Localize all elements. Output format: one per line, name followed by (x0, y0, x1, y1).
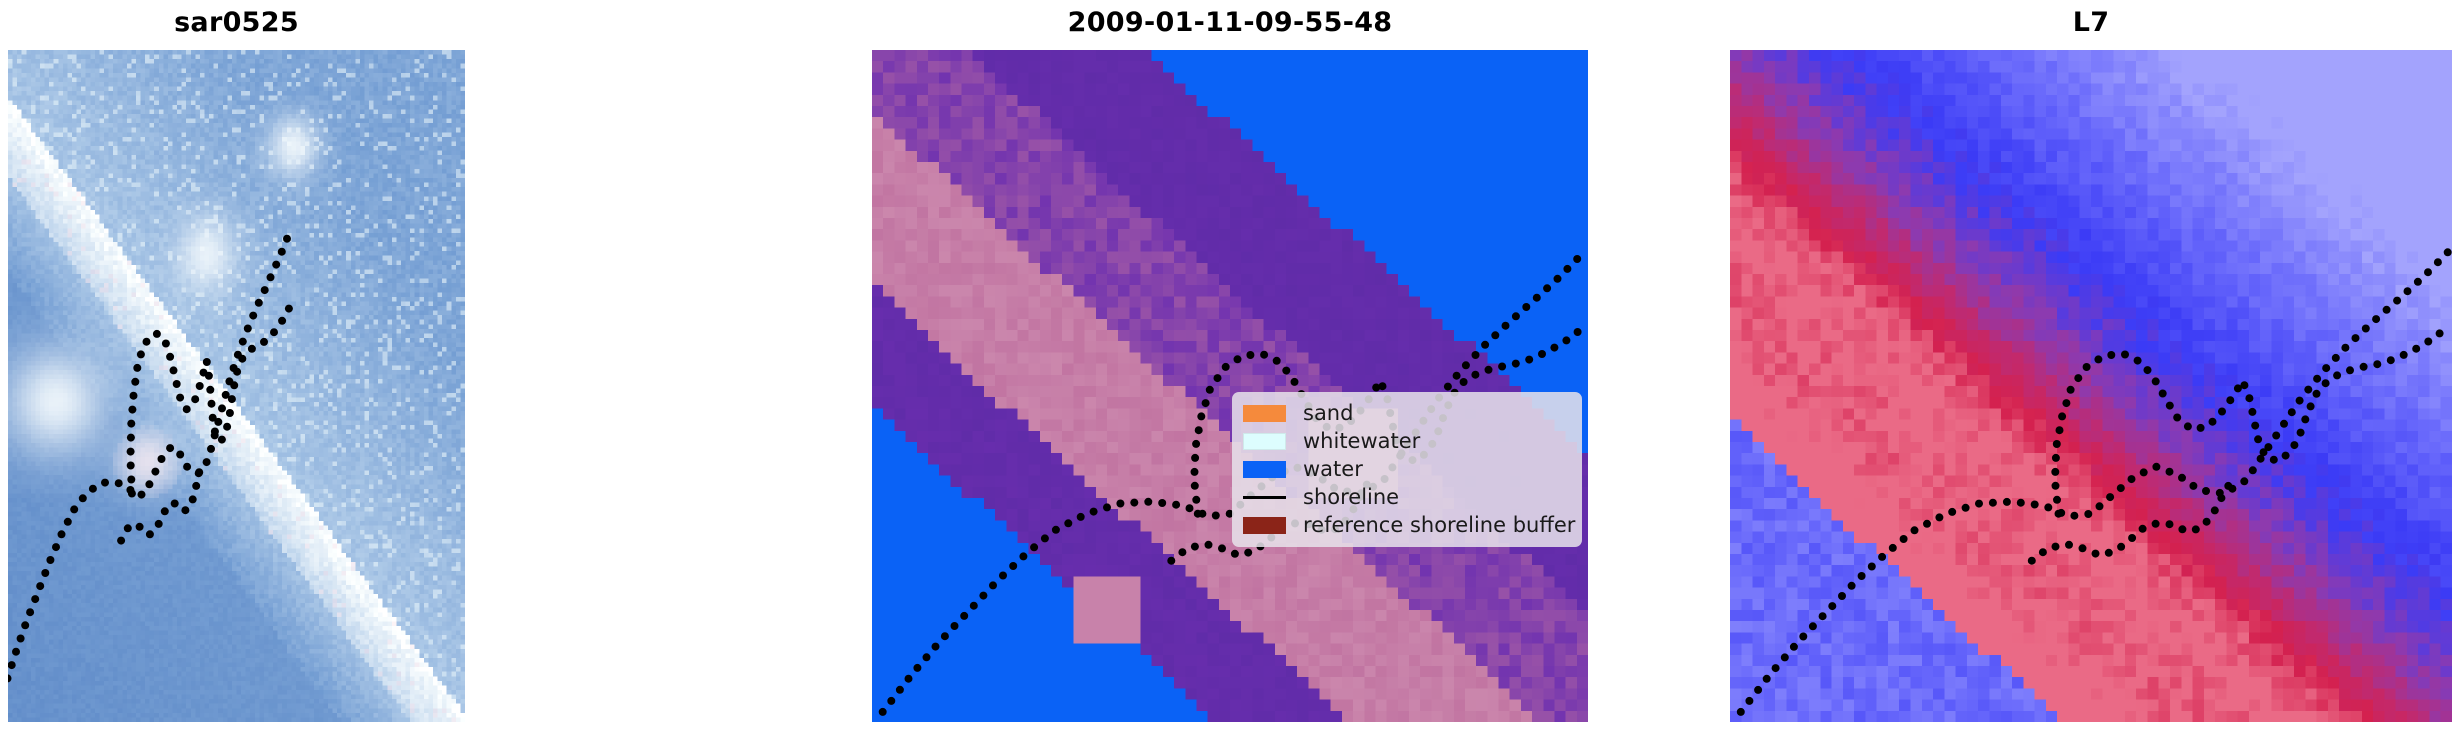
legend-swatch-reference-shoreline-buffer-icon (1243, 517, 1286, 534)
panel-title-classified: 2009-01-11-09-55-48 (872, 6, 1588, 40)
classified-land-water-map (872, 50, 1588, 722)
legend-item-reference-shoreline-buffer: reference shoreline buffer (1243, 513, 1570, 538)
legend-label: reference shoreline buffer (1303, 513, 1575, 538)
legend-label: shoreline (1303, 485, 1399, 510)
axes-sar0525 (8, 50, 465, 722)
legend-item-whitewater: whitewater (1243, 429, 1570, 454)
legend-swatch-whitewater-icon (1243, 433, 1286, 450)
legend-item-sand: sand (1243, 401, 1570, 426)
spectral-index-map (1730, 50, 2452, 722)
legend-label: whitewater (1303, 429, 1420, 454)
legend-item-shoreline: shoreline (1243, 485, 1570, 510)
axes-l7 (1730, 50, 2452, 722)
legend-item-water: water (1243, 457, 1570, 482)
panel-title-sar0525: sar0525 (8, 6, 465, 40)
figure-root: sar0525 2009-01-11-09-55-48 L7 sandwhite… (0, 0, 2460, 735)
panel-title-l7: L7 (1730, 6, 2452, 40)
legend-label: sand (1303, 401, 1353, 426)
axes-classified (872, 50, 1588, 722)
legend: sandwhitewaterwatershorelinereference sh… (1232, 392, 1582, 547)
satellite-rgb-image (8, 50, 465, 722)
legend-label: water (1303, 457, 1363, 482)
legend-swatch-sand-icon (1243, 405, 1286, 422)
legend-swatch-water-icon (1243, 461, 1286, 478)
legend-swatch-shoreline-icon (1243, 496, 1286, 499)
